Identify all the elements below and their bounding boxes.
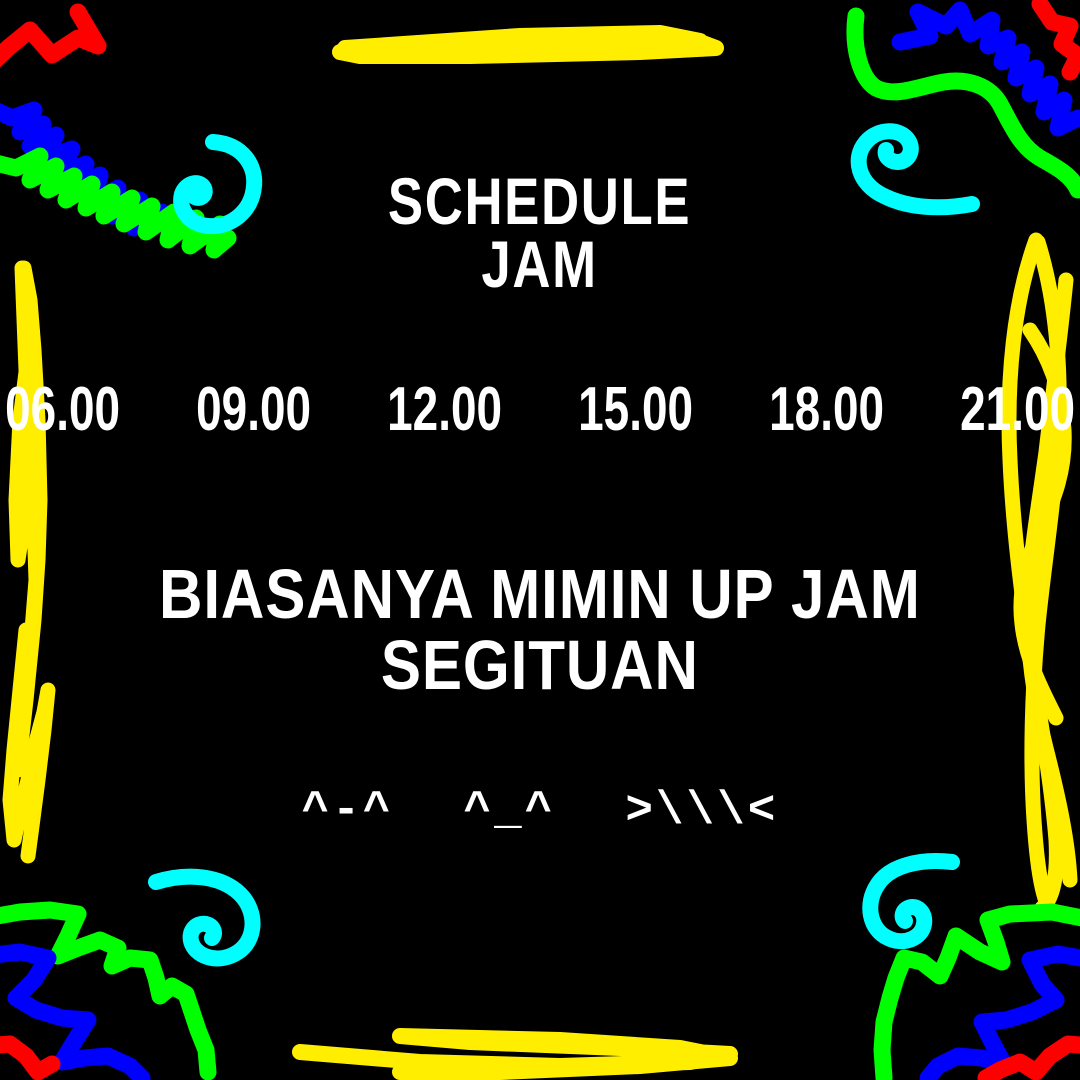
message-block: BIASANYA MIMIN UP JAM SEGITUAN	[97, 559, 983, 702]
headline-line-1: SCHEDULE	[388, 170, 691, 233]
time-slot-1: 09.00	[196, 379, 311, 441]
message-line-2: SEGITUAN	[159, 630, 921, 701]
time-slot-4: 18.00	[769, 379, 884, 441]
emoticon-0: ^-^	[302, 788, 394, 834]
poster-canvas: SCHEDULE JAM 06.00 09.00 12.00 15.00 18.…	[0, 0, 1080, 1080]
time-slot-3: 15.00	[578, 379, 693, 441]
emoticon-1: ^_^	[463, 788, 555, 834]
time-slot-5: 21.00	[960, 379, 1075, 441]
page-title: SCHEDULE JAM	[350, 170, 729, 297]
emoticon-row: ^-^ ^_^ >\\\<	[302, 788, 779, 834]
schedule-times-row: 06.00 09.00 12.00 15.00 18.00 21.00	[0, 379, 1080, 441]
time-slot-2: 12.00	[387, 379, 502, 441]
headline-line-2: JAM	[388, 233, 691, 296]
time-slot-0: 06.00	[5, 379, 120, 441]
content-layer: SCHEDULE JAM 06.00 09.00 12.00 15.00 18.…	[0, 0, 1080, 1080]
message-line-1: BIASANYA MIMIN UP JAM	[159, 559, 921, 630]
emoticon-2: >\\\<	[625, 788, 778, 834]
